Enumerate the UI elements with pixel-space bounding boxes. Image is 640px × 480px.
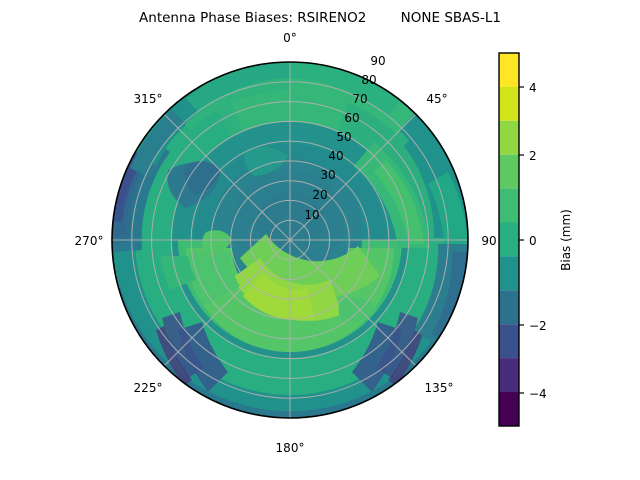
r-tick-70: 70	[352, 92, 367, 106]
colorbar-ticklabel-2: 2	[529, 149, 537, 163]
figure-canvas: Antenna Phase Biases: RSIRENO2 NONE SBAS…	[0, 0, 640, 480]
colorbar-segment-10	[499, 87, 519, 121]
r-tick-90: 90	[370, 54, 385, 68]
contour-band-south-darkest	[234, 418, 346, 427]
polar-contour-plot: 0° 45° 90 135° 180° 225° 270° 315° 10 20…	[0, 0, 640, 480]
r-tick-30: 30	[320, 168, 335, 182]
theta-tick-270: 270°	[75, 234, 104, 248]
r-tick-80: 80	[361, 73, 376, 87]
colorbar-segment-7	[499, 189, 519, 223]
theta-tick-135: 135°	[425, 381, 454, 395]
colorbar-ticklabel-0: 0	[529, 234, 537, 248]
colorbar-segment-3	[499, 324, 519, 358]
r-tick-10: 10	[304, 208, 319, 222]
theta-tick-180: 180°	[276, 441, 305, 455]
theta-tick-45: 45°	[426, 92, 447, 106]
polar-grid	[112, 62, 468, 418]
r-tick-40: 40	[328, 149, 343, 163]
r-tick-60: 60	[344, 111, 359, 125]
colorbar-axis-label: Bias (mm)	[559, 209, 573, 271]
colorbar-ticklabel-4: 4	[529, 81, 537, 95]
colorbar-segment-11	[499, 53, 519, 87]
colorbar-segment-9	[499, 121, 519, 155]
colorbar-segment-1	[499, 392, 519, 426]
colorbar-ticks	[519, 87, 524, 393]
r-tick-20: 20	[312, 188, 327, 202]
colorbar-segment-2	[499, 358, 519, 392]
theta-tick-315: 315°	[134, 92, 163, 106]
colorbar-ticklabel-neg4: −4	[529, 387, 547, 401]
theta-tick-225: 225°	[134, 381, 163, 395]
colorbar-segment-8	[499, 155, 519, 189]
colorbar-segment-5	[499, 256, 519, 290]
colorbar[interactable]: 4 2 0 −2 −4 Bias (mm)	[499, 53, 573, 426]
colorbar-segment-6	[499, 223, 519, 257]
colorbar-ticklabel-neg2: −2	[529, 319, 547, 333]
colorbar-segment-4	[499, 290, 519, 324]
r-tick-50: 50	[336, 130, 351, 144]
theta-tick-0: 0°	[283, 31, 297, 45]
theta-tick-90: 90	[481, 234, 496, 248]
